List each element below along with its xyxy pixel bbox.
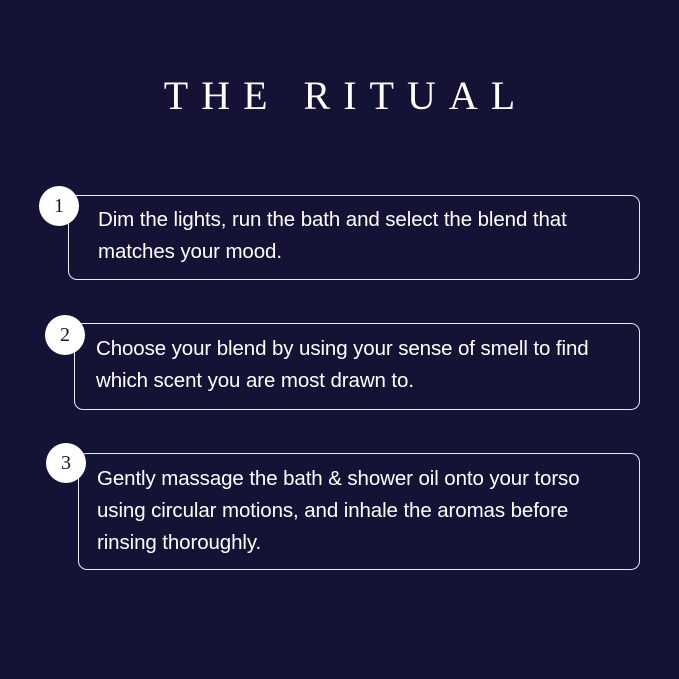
step-1-text: Dim the lights, run the bath and select …	[98, 204, 628, 268]
ritual-poster: THE RITUAL Dim the lights, run the bath …	[0, 0, 679, 679]
step-3-text: Gently massage the bath & shower oil ont…	[97, 463, 632, 559]
step-2-text: Choose your blend by using your sense of…	[96, 333, 630, 397]
step-3-number-badge: 3	[46, 443, 86, 483]
page-title: THE RITUAL	[0, 72, 679, 120]
step-1-number-badge: 1	[39, 186, 79, 226]
step-2-number-badge: 2	[45, 315, 85, 355]
